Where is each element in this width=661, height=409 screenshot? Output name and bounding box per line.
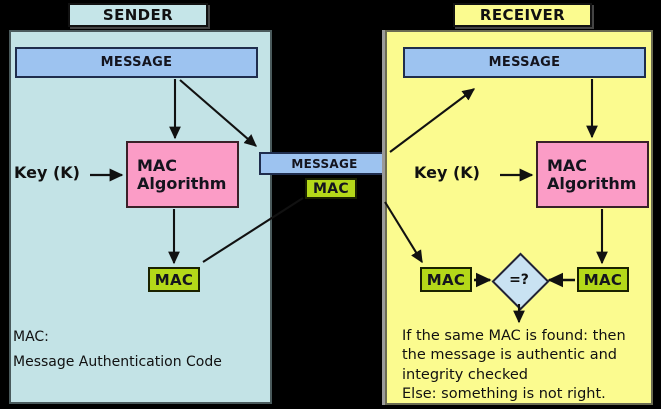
verdict-line-3: integrity checked [402, 366, 652, 385]
sender-message-label: MESSAGE [101, 55, 173, 70]
receiver-header-tab: RECEIVER [453, 3, 592, 27]
receiver-header-label: RECEIVER [480, 6, 565, 24]
receiver-received-mac-label: MAC [427, 271, 465, 289]
receiver-received-mac-tag: MAC [420, 267, 472, 292]
compare-label: =? [493, 254, 545, 306]
sender-header-tab: SENDER [68, 3, 208, 27]
receiver-computed-mac-tag: MAC [577, 267, 629, 292]
verdict-line-2: the message is authentic and [402, 346, 652, 365]
receiver-message-box: MESSAGE [403, 47, 646, 78]
sender-mac-algorithm-line2: Algorithm [137, 175, 226, 193]
sender-legend: MAC: Message Authentication Code [13, 325, 222, 374]
sender-key-text: Key (K) [14, 163, 80, 182]
sender-mac-algorithm-line1: MAC [137, 157, 177, 175]
receiver-message-label: MESSAGE [489, 55, 561, 70]
sender-mac-label: MAC [155, 271, 193, 289]
verdict-line-1: If the same MAC is found: then [402, 327, 652, 346]
diagram-canvas: SENDER RECEIVER MESSAGE Key (K) MAC Algo… [0, 0, 661, 409]
legend-line-2: Message Authentication Code [13, 350, 222, 375]
verdict-line-4: Else: something is not right. [402, 385, 652, 404]
sender-header-label: SENDER [103, 6, 173, 24]
sender-mac-algorithm-box: MAC Algorithm [126, 141, 239, 208]
transmitted-mac-label: MAC [313, 181, 349, 197]
transmitted-mac-tag: MAC [305, 178, 357, 199]
transmitted-message-label: MESSAGE [291, 157, 357, 171]
transmitted-message-box: MESSAGE [259, 152, 390, 175]
receiver-mac-algorithm-box: MAC Algorithm [536, 141, 649, 208]
receiver-key-text: Key (K) [414, 163, 480, 182]
sender-mac-tag: MAC [148, 267, 200, 292]
receiver-computed-mac-label: MAC [584, 271, 622, 289]
receiver-key-label: Key (K) [414, 163, 480, 182]
receiver-mac-algorithm-line2: Algorithm [547, 175, 636, 193]
sender-message-box: MESSAGE [15, 47, 258, 78]
sender-key-label: Key (K) [14, 163, 80, 182]
legend-line-1: MAC: [13, 325, 222, 350]
receiver-mac-algorithm-line1: MAC [547, 157, 587, 175]
mac-compare-diamond: =? [493, 254, 545, 306]
receiver-verdict-text: If the same MAC is found: then the messa… [402, 327, 652, 404]
